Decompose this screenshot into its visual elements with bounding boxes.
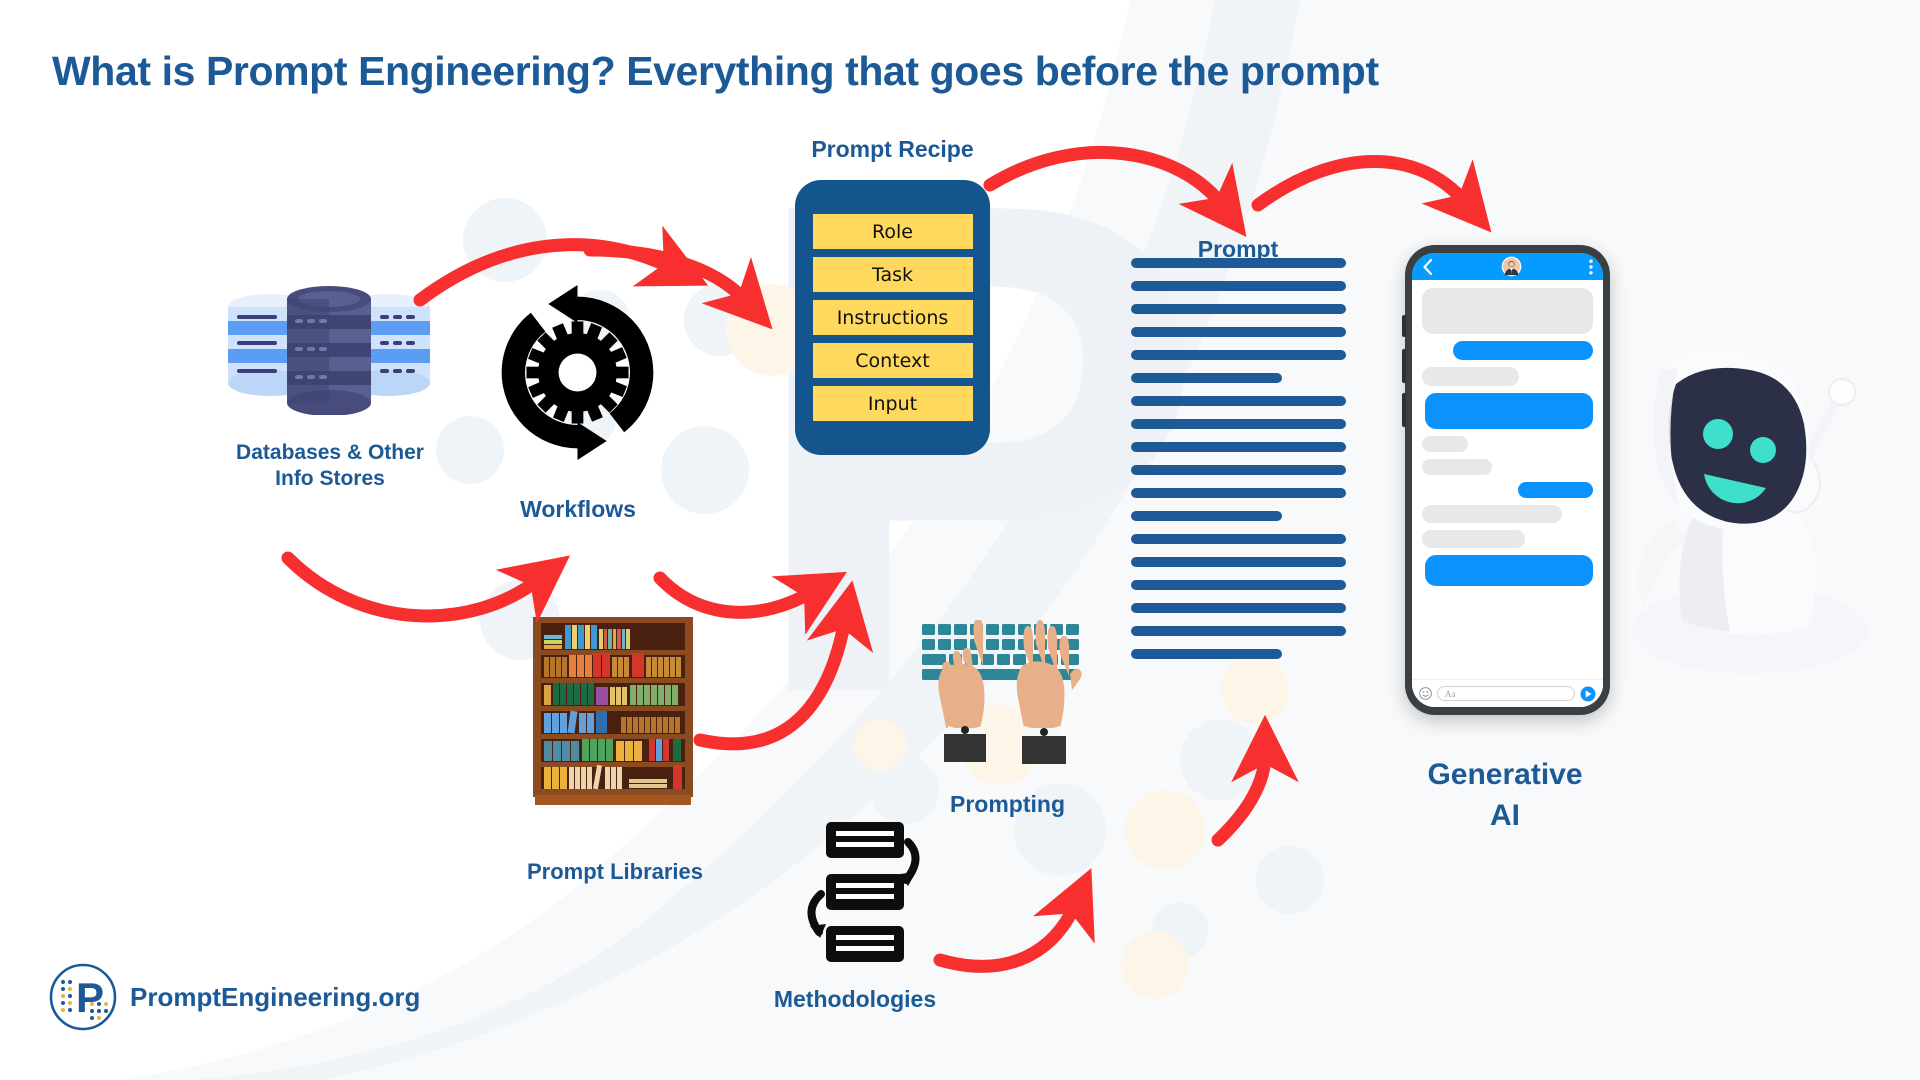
process-steps-icon	[788, 820, 923, 965]
phone-side-button-2[interactable]	[1402, 349, 1406, 383]
chevron-left-icon[interactable]	[1422, 259, 1433, 275]
arrow-libraries-to-workflows	[288, 558, 538, 616]
prompt-recipe-card: Role Task Instructions Context Input	[795, 180, 990, 455]
smartphone-mockup: Aa	[1405, 245, 1610, 715]
recipe-chip-instructions[interactable]: Instructions	[813, 300, 973, 335]
arrow-methodologies-to-prompting	[940, 905, 1075, 966]
recipe-chip-role[interactable]: Role	[813, 214, 973, 249]
phone-side-button-1[interactable]	[1402, 315, 1406, 337]
prompt-line	[1131, 511, 1282, 521]
chat-text-input[interactable]: Aa	[1437, 686, 1575, 701]
database-stack-icon	[225, 285, 435, 415]
node-prompt-libraries	[533, 617, 693, 812]
chat-bubble-incoming	[1422, 288, 1593, 334]
chat-bubble-incoming	[1422, 459, 1492, 475]
infographic-canvas: P What is Prompt Engineering? Everything…	[0, 0, 1920, 1080]
prompt-line	[1131, 396, 1346, 406]
smiley-icon[interactable]	[1419, 687, 1432, 700]
prompt-text-lines	[1131, 258, 1346, 659]
logo-letter: P	[76, 974, 104, 1021]
chat-top-bar	[1412, 253, 1603, 280]
avatar-icon[interactable]	[1501, 256, 1522, 277]
label-prompt-libraries: Prompt Libraries	[480, 858, 750, 886]
prompt-line	[1131, 626, 1346, 636]
send-arrow-icon[interactable]	[1580, 686, 1596, 702]
chat-bubble-incoming	[1422, 436, 1468, 452]
chat-message-list[interactable]	[1412, 280, 1603, 679]
chat-bubble-outgoing	[1425, 393, 1593, 429]
prompt-line	[1131, 327, 1346, 337]
label-generative-ai: Generative AI	[1395, 755, 1615, 836]
recipe-chip-task[interactable]: Task	[813, 257, 973, 292]
prompt-line	[1131, 281, 1346, 291]
chat-bubble-outgoing	[1518, 482, 1593, 498]
chat-bubble-outgoing	[1453, 341, 1593, 360]
node-workflows	[490, 285, 665, 465]
logo-mark-icon: P	[48, 962, 118, 1032]
logo-wordmark: PromptEngineering.org	[130, 982, 420, 1013]
gear-cycle-icon	[490, 285, 665, 460]
node-methodologies	[788, 820, 923, 970]
prompt-line	[1131, 373, 1282, 383]
chat-bubble-incoming	[1422, 530, 1525, 548]
assistant-robot-icon	[1600, 300, 1890, 680]
prompt-line	[1131, 649, 1282, 659]
chat-bubble-outgoing	[1425, 555, 1593, 586]
bookshelf-icon	[533, 617, 693, 807]
prompt-line	[1131, 488, 1346, 498]
three-dot-menu-icon[interactable]	[1589, 259, 1593, 275]
recipe-chip-input[interactable]: Input	[813, 386, 973, 421]
label-prompting: Prompting	[915, 790, 1100, 819]
label-databases: Databases & Other Info Stores	[200, 440, 460, 493]
label-prompt: Prompt	[1138, 235, 1338, 264]
prompt-line	[1131, 465, 1346, 475]
node-prompting	[918, 620, 1098, 785]
prompt-line	[1131, 534, 1346, 544]
prompt-line	[1131, 603, 1346, 613]
phone-side-button-3[interactable]	[1402, 393, 1406, 427]
site-logo[interactable]: P PromptEngineering.org	[48, 962, 420, 1032]
prompt-line	[1131, 442, 1346, 452]
prompt-line	[1131, 350, 1346, 360]
arrow-prompting-to-prompt	[1218, 755, 1265, 840]
chat-bubble-incoming	[1422, 505, 1562, 523]
label-prompt-recipe: Prompt Recipe	[775, 135, 1010, 164]
arrow-workflows-to-libraries	[660, 578, 812, 612]
prompt-line	[1131, 419, 1346, 429]
chat-input-bar[interactable]: Aa	[1412, 679, 1603, 707]
page-title: What is Prompt Engineering? Everything t…	[52, 48, 1379, 95]
arrow-prompt-to-genai	[1258, 161, 1465, 205]
arrow-libraries-to-recipe	[700, 620, 845, 744]
prompt-line	[1131, 580, 1346, 590]
prompt-line	[1131, 304, 1346, 314]
hands-keyboard-icon	[918, 620, 1098, 780]
label-workflows: Workflows	[478, 495, 678, 524]
prompt-line	[1131, 557, 1346, 567]
arrow-recipe-to-prompt	[990, 152, 1222, 205]
label-methodologies: Methodologies	[710, 985, 1000, 1014]
chat-bubble-incoming	[1422, 367, 1519, 386]
recipe-chip-context[interactable]: Context	[813, 343, 973, 378]
node-databases	[225, 285, 435, 420]
